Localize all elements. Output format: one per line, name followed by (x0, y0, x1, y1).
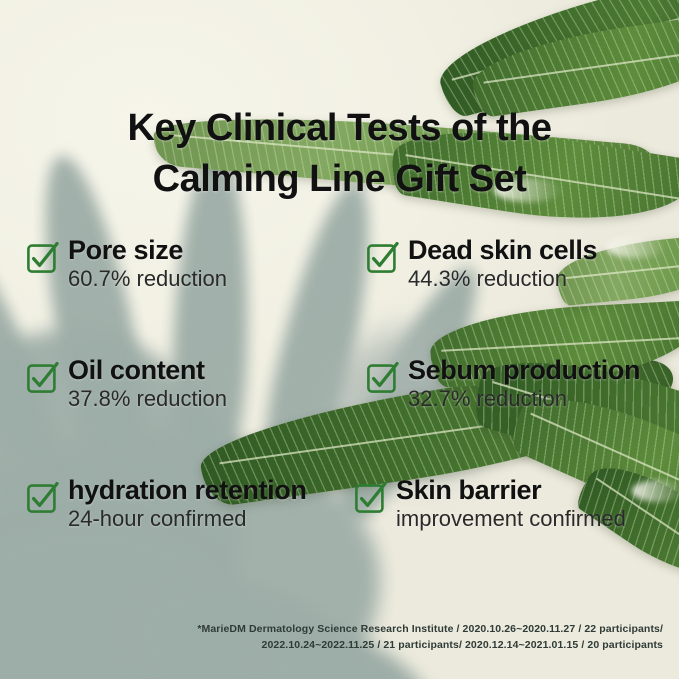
claim-item-hydration-retention: hydration retention 24-hour confirmed (26, 476, 340, 533)
study-footnote: *MarieDM Dermatology Science Research In… (0, 622, 663, 653)
claim-title: Skin barrier (396, 475, 541, 505)
claim-result: 37.8% reduction (68, 386, 227, 411)
claims-row: Pore size 60.7% reduction (0, 236, 679, 356)
claim-result: 44.3% reduction (408, 266, 567, 291)
claim-item-skin-barrier: Skin barrier improvement confirmed (354, 476, 679, 533)
claim-text: Oil content 37.8% reduction (68, 356, 340, 413)
claim-result: 60.7% reduction (68, 266, 227, 291)
check-square-icon (26, 482, 58, 514)
claim-text: Dead skin cells 44.3% reduction (408, 236, 679, 293)
check-square-icon (26, 362, 58, 394)
page-title: Key Clinical Tests of the Calming Line G… (0, 103, 679, 203)
claim-text: Pore size 60.7% reduction (68, 236, 340, 293)
claim-title: Oil content (68, 355, 205, 385)
claim-cell: Oil content 37.8% reduction (0, 356, 340, 476)
check-square-icon (366, 242, 398, 274)
claim-text: Skin barrier improvement confirmed (396, 476, 679, 533)
claim-item-oil-content: Oil content 37.8% reduction (26, 356, 340, 413)
claims-row: hydration retention 24-hour confirmed (0, 476, 679, 596)
claim-item-sebum-production: Sebum production 32.7% reduction (366, 356, 679, 413)
title-line-2: Calming Line Gift Set (0, 154, 679, 204)
check-square-icon (354, 482, 386, 514)
claim-result: 24-hour confirmed (68, 506, 247, 531)
title-line-1: Key Clinical Tests of the (0, 103, 679, 153)
claim-item-dead-skin-cells: Dead skin cells 44.3% reduction (366, 236, 679, 293)
promotional-poster: Key Clinical Tests of the Calming Line G… (0, 0, 679, 679)
claim-item-pore-size: Pore size 60.7% reduction (26, 236, 340, 293)
footnote-line-1: *MarieDM Dermatology Science Research In… (0, 622, 663, 638)
claim-result: 32.7% reduction (408, 386, 567, 411)
claim-title: Dead skin cells (408, 235, 597, 265)
claim-text: Sebum production 32.7% reduction (408, 356, 679, 413)
claim-cell: Pore size 60.7% reduction (0, 236, 340, 356)
claim-cell: Skin barrier improvement confirmed (340, 476, 679, 596)
check-square-icon (366, 362, 398, 394)
claim-cell: hydration retention 24-hour confirmed (0, 476, 340, 596)
claim-result: improvement confirmed (396, 506, 626, 531)
claim-title: Pore size (68, 235, 183, 265)
claims-row: Oil content 37.8% reduction (0, 356, 679, 476)
footnote-line-2: 2022.10.24~2022.11.25 / 21 participants/… (0, 638, 663, 654)
check-square-icon (26, 242, 58, 274)
claim-text: hydration retention 24-hour confirmed (68, 476, 340, 533)
claim-title: Sebum production (408, 355, 640, 385)
claims-grid: Pore size 60.7% reduction (0, 236, 679, 596)
claim-title: hydration retention (68, 475, 306, 505)
claim-cell: Sebum production 32.7% reduction (340, 356, 679, 476)
claim-cell: Dead skin cells 44.3% reduction (340, 236, 679, 356)
